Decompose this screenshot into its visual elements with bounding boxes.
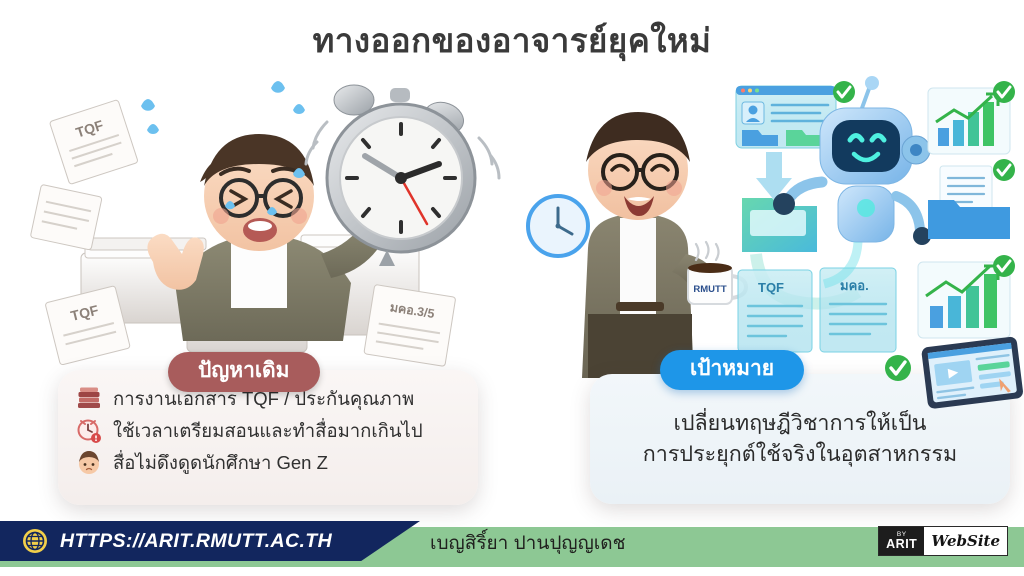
- hologram-doc-tqf: TQF: [738, 270, 812, 352]
- wall-clock-icon: [528, 196, 588, 256]
- svg-text:มคอ.: มคอ.: [840, 278, 869, 293]
- page-title: ทางออกของอาจารย์ยุคใหม่: [0, 20, 1024, 61]
- check-badge-icon: [993, 159, 1015, 181]
- list-item-label: สื่อไม่ดึงดูดนักศึกษา Gen Z: [113, 451, 328, 475]
- site-url[interactable]: HTTPS://ARIT.RMUTT.AC.TH: [60, 530, 332, 553]
- alarm-clock-icon: [76, 418, 102, 444]
- check-badge-icon: [993, 81, 1015, 103]
- left-illustration: TQF TQF TQF: [35, 78, 505, 378]
- tablet-illustration: [880, 336, 1024, 406]
- happy-teacher-figure: RMUTT: [582, 112, 746, 378]
- svg-text:RMUTT: RMUTT: [693, 284, 726, 295]
- problem-badge: ปัญหาเดิม: [168, 352, 320, 392]
- logo-arit-block: BY ARIT: [879, 527, 924, 555]
- check-badge-icon: [993, 255, 1015, 277]
- goal-line-1: เปลี่ยนทฤษฎีวิชาการให้เป็น: [673, 408, 926, 439]
- list-item: สื่อไม่ดึงดูดนักศึกษา Gen Z: [76, 450, 478, 476]
- check-badge-icon: [885, 355, 911, 381]
- slide-root: ทางออกของอาจารย์ยุคใหม่: [0, 0, 1024, 576]
- footer-bar: HTTPS://ARIT.RMUTT.AC.TH เบญสิริ์ยา ปานป…: [0, 518, 1024, 576]
- books-icon: [76, 386, 102, 412]
- goal-badge: เป้าหมาย: [660, 350, 804, 390]
- person-face-icon: [76, 450, 102, 476]
- check-badge-icon: [833, 81, 855, 103]
- globe-icon: [22, 528, 48, 554]
- list-item: ใช้เวลาเตรียมสอนและทำสื่อมากเกินไป: [76, 418, 478, 444]
- presenter-name: เบญสิริ์ยา ปานปุญญเดช: [430, 528, 626, 558]
- list-item-label: ใช้เวลาเตรียมสอนและทำสื่อมากเกินไป: [113, 419, 423, 443]
- logo-website-text: WebSite: [924, 527, 1007, 555]
- arit-website-logo: BY ARIT WebSite: [878, 526, 1008, 556]
- coffee-mug: RMUTT: [688, 242, 746, 304]
- logo-arit-text: ARIT: [886, 538, 917, 551]
- svg-text:TQF: TQF: [758, 280, 784, 295]
- right-illustration: RMUTT: [520, 78, 1020, 378]
- footer-url-strip: HTTPS://ARIT.RMUTT.AC.TH: [0, 521, 420, 561]
- goal-line-2: การประยุกต์ใช้จริงในอุตสาหกรรม: [643, 439, 957, 470]
